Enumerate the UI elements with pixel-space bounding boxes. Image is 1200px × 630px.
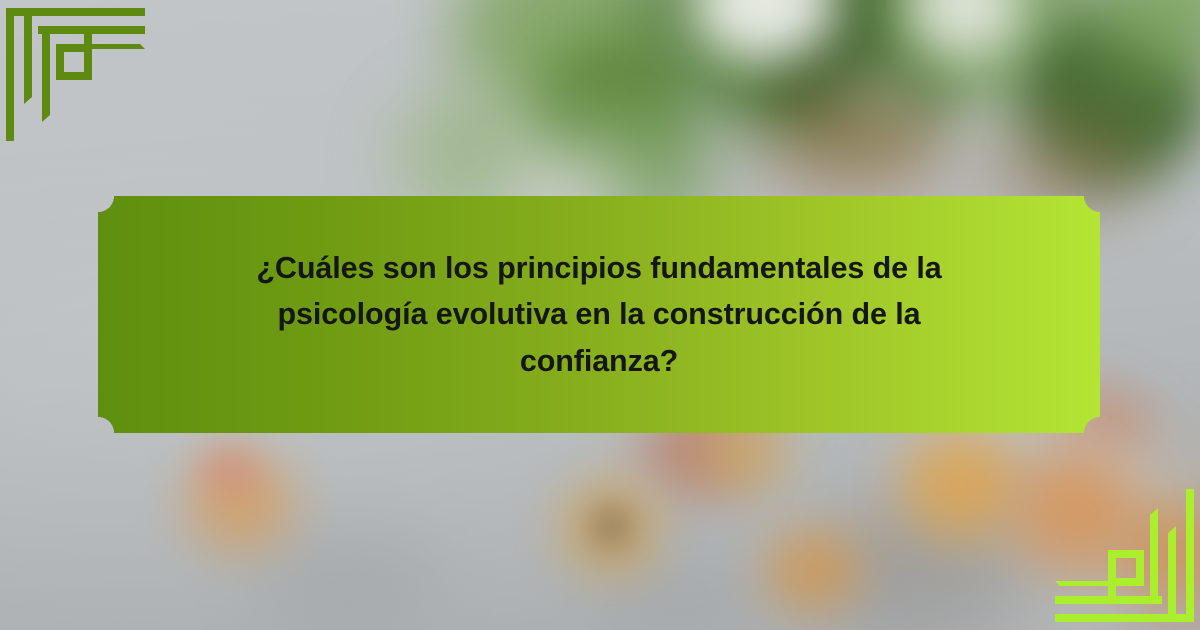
headline-banner-text-area: ¿Cuáles son los principios fundamentales… [98,196,1100,433]
page-title: ¿Cuáles son los principios fundamentales… [208,245,990,385]
headline-banner: ¿Cuáles son los principios fundamentales… [98,196,1100,433]
social-card: ¿Cuáles son los principios fundamentales… [0,0,1200,630]
